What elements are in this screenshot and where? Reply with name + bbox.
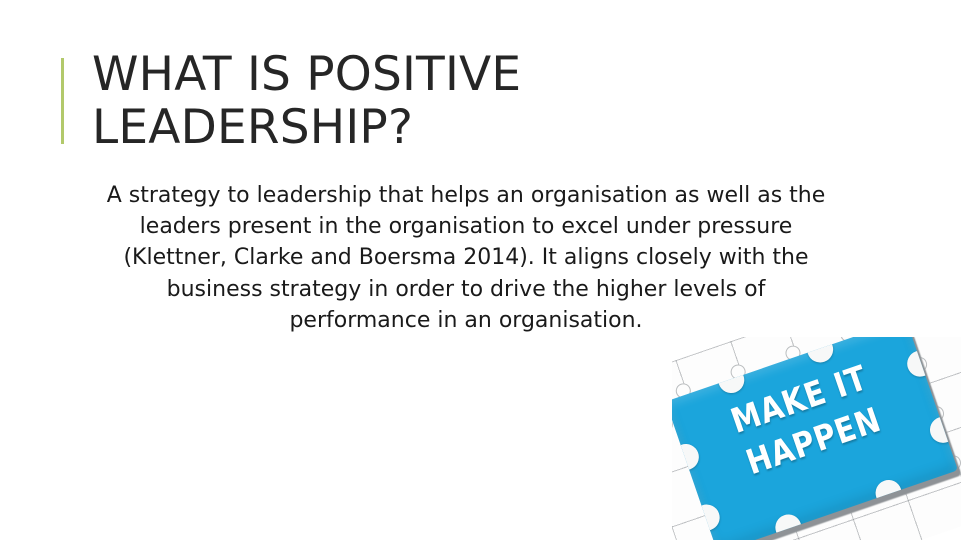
make-it-happen-puzzle-image: MAKE IT HAPPEN bbox=[672, 337, 961, 540]
slide-body-text: A strategy to leadership that helps an o… bbox=[98, 180, 834, 336]
title-accent-bar bbox=[61, 58, 64, 144]
slide-title-block: What is Positive Leadership? bbox=[61, 48, 781, 158]
page-title: What is Positive Leadership? bbox=[92, 48, 782, 154]
presentation-slide: What is Positive Leadership? A strategy … bbox=[0, 0, 961, 540]
